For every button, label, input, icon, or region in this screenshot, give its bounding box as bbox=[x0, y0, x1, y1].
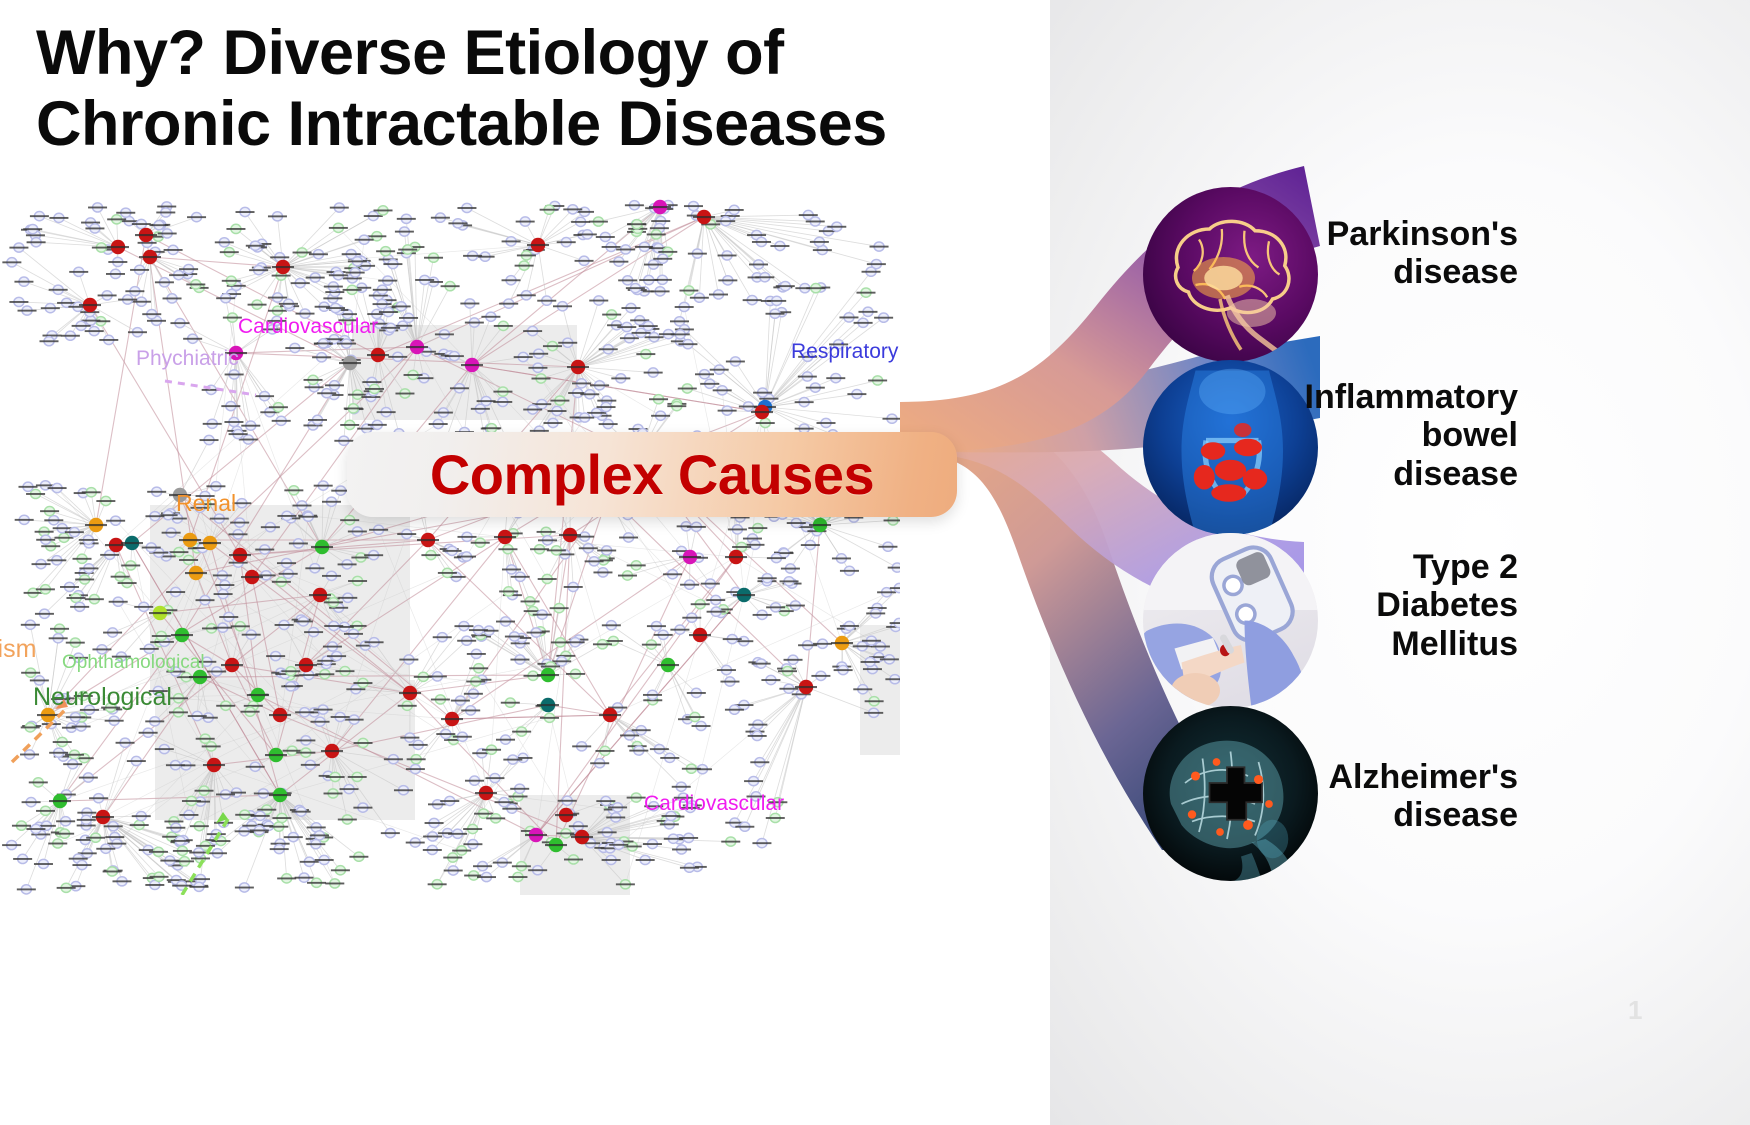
network-node-gene bbox=[847, 389, 866, 398]
network-node-gene bbox=[314, 481, 333, 490]
network-node-gene bbox=[635, 242, 654, 251]
network-node-gene bbox=[675, 302, 694, 311]
network-node-gene bbox=[306, 273, 325, 282]
network-node-gene bbox=[14, 277, 33, 286]
network-node-gene bbox=[692, 721, 711, 730]
disease-image-diabetes bbox=[1143, 533, 1318, 708]
network-cluster-label: lism bbox=[0, 635, 36, 664]
network-node-gene bbox=[53, 737, 72, 746]
network-node-gene bbox=[116, 738, 135, 747]
network-node-gene bbox=[200, 435, 219, 444]
network-node-gene bbox=[255, 392, 274, 401]
network-node-gene bbox=[580, 390, 599, 399]
network-node-gene bbox=[106, 269, 125, 278]
network-node-gene bbox=[868, 376, 887, 385]
network-node-gene bbox=[832, 554, 851, 563]
network-node-gene bbox=[406, 838, 425, 847]
network-node-gene bbox=[718, 251, 737, 260]
network-node-gene bbox=[291, 278, 310, 287]
network-node-gene bbox=[128, 328, 147, 337]
network-node-gene bbox=[395, 227, 414, 236]
network-node-gene bbox=[593, 568, 612, 577]
network-nodes bbox=[2, 200, 900, 894]
network-node-gene bbox=[2, 840, 21, 849]
network-node-gene bbox=[27, 238, 46, 247]
network-node-gene bbox=[49, 634, 68, 643]
network-node-gene bbox=[70, 602, 89, 611]
network-node-gene bbox=[156, 208, 175, 217]
network-node-gene bbox=[270, 844, 289, 853]
network-node-gene bbox=[89, 794, 108, 803]
brain-black-icon bbox=[1143, 706, 1318, 881]
network-node-gene bbox=[721, 837, 740, 846]
network-node-gene bbox=[750, 758, 769, 767]
network-node-gene bbox=[106, 516, 125, 525]
network-node-gene bbox=[743, 295, 762, 304]
network-node-gene bbox=[41, 304, 60, 313]
network-node-gene bbox=[756, 418, 775, 427]
network-node-gene bbox=[748, 523, 767, 532]
network-node-gene bbox=[460, 299, 479, 308]
network-edge bbox=[428, 540, 610, 715]
disease-image-parkinsons bbox=[1143, 187, 1318, 362]
network-node-gene bbox=[575, 532, 594, 541]
network-node-gene bbox=[709, 290, 728, 299]
network-node-gene bbox=[9, 297, 28, 306]
network-node-gene bbox=[643, 690, 662, 699]
network-node-gene bbox=[187, 213, 206, 222]
network-node-gene bbox=[840, 566, 859, 575]
network-node-gene bbox=[147, 487, 166, 496]
network-edge bbox=[236, 353, 270, 412]
network-node-gene bbox=[752, 839, 771, 848]
network-node-gene bbox=[441, 282, 460, 291]
network-node-gene bbox=[98, 291, 117, 300]
network-node-gene bbox=[433, 633, 452, 642]
network-edge bbox=[578, 315, 612, 367]
network-node-disease bbox=[417, 533, 439, 547]
network-node-gene bbox=[801, 540, 820, 549]
network-node-gene bbox=[381, 828, 400, 837]
network-node-gene bbox=[48, 839, 67, 848]
network-node-gene bbox=[538, 574, 557, 583]
network-node-gene bbox=[423, 845, 442, 854]
network-node-gene bbox=[858, 307, 877, 316]
network-node-gene bbox=[481, 312, 500, 321]
network-node-gene bbox=[619, 533, 638, 542]
network-node-gene bbox=[672, 845, 691, 854]
network-node-gene bbox=[79, 773, 98, 782]
network-edge bbox=[668, 665, 695, 717]
network-node-gene bbox=[431, 695, 450, 704]
network-node-gene bbox=[312, 353, 331, 362]
network-node-gene bbox=[477, 872, 496, 881]
disease-image-ibd bbox=[1143, 360, 1318, 535]
network-node-gene bbox=[856, 288, 875, 297]
network-node-gene bbox=[672, 782, 691, 791]
network-node-gene bbox=[376, 247, 395, 256]
network-node-gene bbox=[61, 331, 80, 340]
network-node-gene bbox=[224, 417, 243, 426]
network-cluster-label: Ophthamological bbox=[62, 652, 205, 674]
network-node-gene bbox=[564, 582, 583, 591]
network-node-gene bbox=[589, 217, 608, 226]
network-node-gene bbox=[13, 854, 32, 863]
network-node-gene bbox=[40, 507, 59, 516]
network-svg bbox=[0, 195, 900, 895]
network-node-gene bbox=[644, 368, 663, 377]
network-node-gene bbox=[749, 260, 768, 269]
network-node-gene bbox=[888, 563, 900, 572]
network-node-gene bbox=[643, 839, 662, 848]
network-node-gene bbox=[510, 784, 529, 793]
network-cluster-label: Respiratory bbox=[791, 340, 898, 364]
network-node-gene bbox=[465, 776, 484, 785]
network-node-gene bbox=[424, 253, 443, 262]
network-node-gene bbox=[684, 201, 703, 210]
network-edge bbox=[39, 216, 118, 247]
network-node-gene bbox=[744, 776, 763, 785]
network-node-gene bbox=[85, 326, 104, 335]
network-edge bbox=[610, 715, 691, 769]
network-cluster-label: Cardiovascular bbox=[644, 792, 784, 816]
network-node-gene bbox=[706, 595, 725, 604]
network-node-gene bbox=[566, 669, 585, 678]
network-node-gene bbox=[300, 857, 319, 866]
network-node-gene bbox=[29, 778, 48, 787]
network-node-gene bbox=[103, 867, 122, 876]
network-edge bbox=[610, 557, 736, 715]
network-node-gene bbox=[625, 201, 644, 210]
network-node-gene bbox=[241, 421, 260, 430]
network-cluster-label: Neurological bbox=[33, 683, 172, 712]
network-node-gene bbox=[753, 610, 772, 619]
network-node-gene bbox=[496, 617, 515, 626]
network-node-gene bbox=[602, 310, 621, 319]
network-node-gene bbox=[163, 294, 182, 303]
network-node-gene bbox=[667, 402, 686, 411]
network-node-gene bbox=[884, 516, 900, 525]
network-node-gene bbox=[718, 276, 737, 285]
network-node-gene bbox=[270, 253, 289, 262]
network-node-gene bbox=[18, 306, 37, 315]
network-node-gene bbox=[473, 862, 492, 871]
disease-label-ibd: Inflammatory bowel disease bbox=[1300, 378, 1518, 493]
network-node-gene bbox=[502, 237, 521, 246]
network-node-gene bbox=[589, 296, 608, 305]
network-node-gene bbox=[108, 257, 127, 266]
network-cluster-label: Phychiatric bbox=[136, 347, 239, 371]
network-node-gene bbox=[618, 571, 637, 580]
network-node-gene bbox=[307, 878, 326, 887]
network-node-gene bbox=[428, 880, 447, 889]
network-node-gene bbox=[654, 630, 673, 639]
network-node-gene bbox=[132, 812, 151, 821]
network-edge bbox=[180, 440, 209, 495]
network-node-gene bbox=[798, 641, 817, 650]
network-node-gene bbox=[463, 251, 482, 260]
network-node-gene bbox=[493, 858, 512, 867]
network-node-gene bbox=[784, 655, 803, 664]
network-node-gene bbox=[429, 419, 448, 428]
network-node-gene bbox=[515, 261, 534, 270]
network-edge bbox=[283, 228, 338, 267]
network-node-gene bbox=[35, 609, 54, 618]
network-node-gene bbox=[496, 735, 515, 744]
disease-network-graph: CardiovascularPhychiatricRespiratoryRena… bbox=[0, 195, 900, 895]
network-edge bbox=[668, 665, 688, 719]
network-node-gene bbox=[779, 684, 798, 693]
network-node-gene bbox=[572, 742, 591, 751]
network-node-gene bbox=[183, 334, 202, 343]
network-node-gene bbox=[130, 265, 149, 274]
network-node-gene bbox=[467, 649, 486, 658]
network-node-gene bbox=[602, 621, 621, 630]
network-node-gene bbox=[325, 879, 344, 888]
network-node-gene bbox=[22, 798, 41, 807]
network-node-gene bbox=[540, 713, 559, 722]
network-node-gene bbox=[687, 688, 706, 697]
bowel-blue-icon bbox=[1143, 360, 1318, 535]
network-node-gene bbox=[50, 624, 69, 633]
network-node-gene bbox=[516, 217, 535, 226]
network-node-gene bbox=[813, 639, 832, 648]
network-node-gene bbox=[66, 638, 85, 647]
network-edge bbox=[704, 217, 785, 286]
network-node-gene bbox=[611, 374, 630, 383]
disease-label-diabetes: Type 2 Diabetes Mellitus bbox=[1300, 548, 1518, 663]
network-node-gene bbox=[220, 248, 239, 257]
network-node-gene bbox=[627, 561, 646, 570]
network-node-gene bbox=[15, 515, 34, 524]
complex-causes-banner: Complex Causes bbox=[347, 432, 957, 517]
network-node-gene bbox=[164, 245, 183, 254]
network-node-gene bbox=[425, 818, 444, 827]
network-node-gene bbox=[874, 313, 893, 322]
network-node-gene bbox=[69, 267, 88, 276]
network-node-gene bbox=[882, 414, 900, 423]
banner-label: Complex Causes bbox=[430, 442, 874, 507]
network-node-gene bbox=[235, 883, 254, 892]
network-node-gene bbox=[502, 276, 521, 285]
network-node-gene bbox=[277, 874, 296, 883]
network-node-gene bbox=[99, 335, 118, 344]
network-node-gene bbox=[349, 852, 368, 861]
network-node-gene bbox=[30, 212, 49, 221]
network-node-disease bbox=[689, 628, 711, 642]
network-node-gene bbox=[112, 877, 131, 886]
network-node-gene bbox=[854, 318, 873, 327]
network-node-gene bbox=[826, 374, 845, 383]
network-node-gene bbox=[695, 370, 714, 379]
network-node-gene bbox=[663, 570, 682, 579]
network-node-gene bbox=[575, 256, 594, 265]
network-edge bbox=[538, 245, 584, 261]
network-node-gene bbox=[272, 416, 291, 425]
network-cluster-label: Cardiovascular bbox=[238, 315, 378, 339]
network-node-gene bbox=[20, 750, 39, 759]
network-node-gene bbox=[537, 296, 556, 305]
network-node-gene bbox=[761, 675, 780, 684]
network-node-gene bbox=[621, 303, 640, 312]
network-node-gene bbox=[331, 866, 350, 875]
network-edge bbox=[608, 495, 806, 687]
network-node-gene bbox=[660, 753, 679, 762]
network-node-gene bbox=[781, 564, 800, 573]
network-node-gene bbox=[17, 885, 36, 894]
network-node-gene bbox=[726, 357, 745, 366]
network-node-gene bbox=[203, 419, 222, 428]
network-node-gene bbox=[878, 542, 897, 551]
network-node-gene bbox=[315, 855, 334, 864]
network-node-gene bbox=[236, 207, 255, 216]
network-node-gene bbox=[688, 249, 707, 258]
network-node-gene bbox=[517, 291, 536, 300]
network-node-gene bbox=[651, 287, 670, 296]
network-node-gene bbox=[103, 628, 122, 637]
network-node-gene bbox=[340, 420, 359, 429]
network-node-gene bbox=[73, 554, 92, 563]
network-node-gene bbox=[155, 278, 174, 287]
network-node-gene bbox=[397, 214, 416, 223]
network-node-gene bbox=[839, 313, 858, 322]
page-number: 1 bbox=[1628, 995, 1642, 1026]
network-node-gene bbox=[109, 597, 128, 606]
network-node-gene bbox=[795, 398, 814, 407]
network-node-gene bbox=[295, 873, 314, 882]
network-node-gene bbox=[248, 300, 267, 309]
brain-purple-icon bbox=[1143, 187, 1318, 362]
network-node-gene bbox=[870, 242, 889, 251]
disease-label-alzheimers: Alzheimer's disease bbox=[1300, 758, 1518, 835]
network-node-gene bbox=[647, 621, 666, 630]
network-node-disease bbox=[537, 698, 559, 712]
disease-image-alzheimers bbox=[1143, 706, 1318, 881]
disease-label-parkinsons: Parkinson's disease bbox=[1300, 215, 1518, 292]
network-node-gene bbox=[557, 238, 576, 247]
network-node-gene bbox=[512, 727, 531, 736]
network-node-gene bbox=[21, 620, 40, 629]
network-node-gene bbox=[226, 224, 245, 233]
network-node-gene bbox=[810, 237, 829, 246]
network-node-gene bbox=[678, 384, 697, 393]
network-node-gene bbox=[550, 604, 569, 613]
network-node-gene bbox=[816, 418, 835, 427]
network-node-gene bbox=[537, 527, 556, 536]
network-node-gene bbox=[329, 223, 348, 232]
network-node-gene bbox=[642, 640, 661, 649]
network-node-gene bbox=[813, 245, 832, 254]
network-edge bbox=[506, 705, 548, 740]
slide-canvas: Why? Diverse Etiology of Chronic Intract… bbox=[0, 0, 1750, 1125]
network-node-gene bbox=[499, 299, 518, 308]
network-node-gene bbox=[806, 383, 825, 392]
network-node-gene bbox=[811, 671, 830, 680]
network-node-gene bbox=[428, 672, 447, 681]
network-node-gene bbox=[88, 203, 107, 212]
network-node-gene bbox=[639, 275, 658, 284]
network-edge bbox=[103, 743, 125, 817]
network-cluster-label: Renal bbox=[176, 490, 236, 517]
network-edge bbox=[762, 687, 806, 843]
page-title: Why? Diverse Etiology of Chronic Intract… bbox=[36, 18, 1036, 159]
network-node-gene bbox=[636, 349, 655, 358]
network-node-gene bbox=[75, 575, 94, 584]
network-node-gene bbox=[770, 241, 789, 250]
network-node-gene bbox=[330, 203, 349, 212]
network-node-gene bbox=[127, 756, 146, 765]
network-node-gene bbox=[268, 212, 287, 221]
glucometer-icon bbox=[1143, 533, 1318, 708]
network-node-gene bbox=[501, 698, 520, 707]
network-node-gene bbox=[431, 213, 450, 222]
network-edge bbox=[765, 407, 892, 419]
network-edge bbox=[96, 235, 146, 525]
network-node-gene bbox=[710, 365, 729, 374]
network-node-gene bbox=[9, 243, 28, 252]
network-node-gene bbox=[464, 871, 483, 880]
